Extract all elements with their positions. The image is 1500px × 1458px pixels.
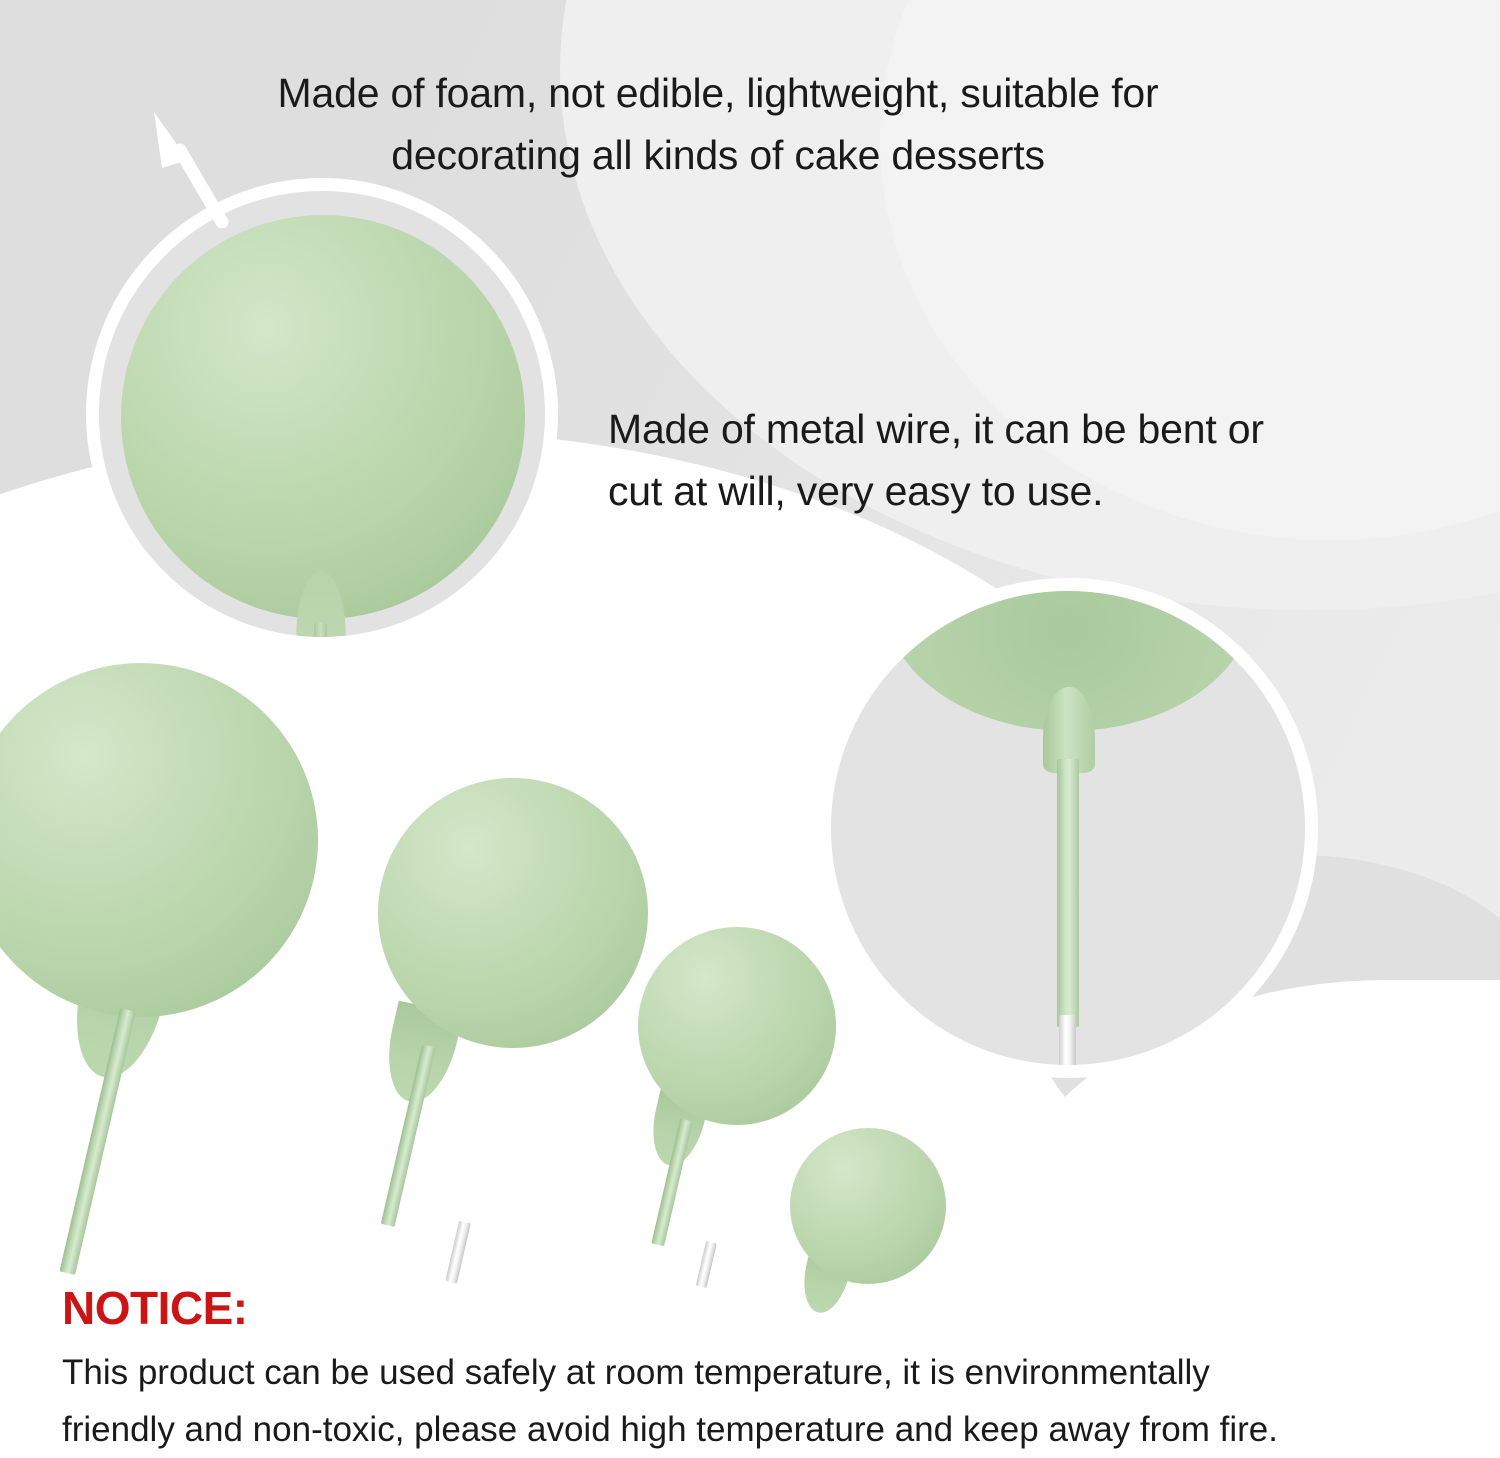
- magnified-wire-shaft: [1057, 759, 1079, 1027]
- callout-arrow-wire: [800, 528, 910, 646]
- magnified-ball-stem: [314, 623, 327, 650]
- callout-text-foam: Made of foam, not edible, lightweight, s…: [118, 62, 1318, 187]
- magnifier-foam-ball: [86, 178, 558, 650]
- ball-size-2-large: [378, 778, 648, 1048]
- ball-size-3-medium: [638, 927, 836, 1125]
- magnified-bare-metal-wire: [1059, 1015, 1076, 1078]
- magnifier-metal-wire: [818, 578, 1318, 1078]
- magnified-foam-ball: [121, 215, 525, 619]
- notice-title: NOTICE:: [62, 1281, 248, 1335]
- callout-text-wire: Made of metal wire, it can be bent or cu…: [608, 398, 1488, 523]
- notice-body-text: This product can be used safely at room …: [62, 1345, 1462, 1458]
- ball-size-4-small: [790, 1128, 946, 1284]
- product-infographic: Made of foam, not edible, lightweight, s…: [0, 0, 1500, 1458]
